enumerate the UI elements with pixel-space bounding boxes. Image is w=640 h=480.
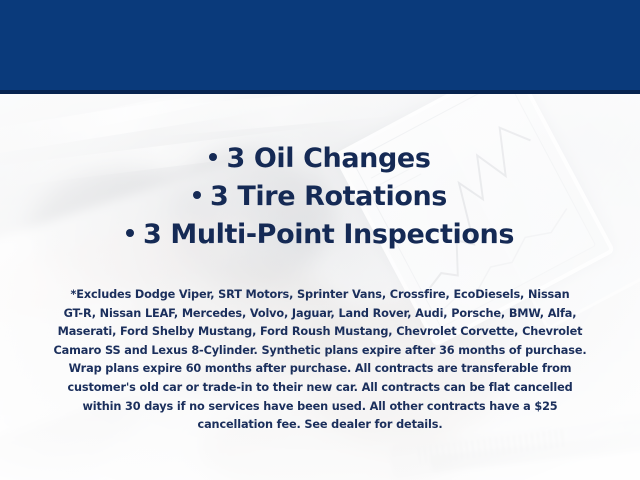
disclaimer-line: Camaro SS and Lexus 8-Cylinder. Syntheti… [34, 342, 606, 361]
benefit-label: 3 Oil Changes [226, 143, 430, 174]
disclaimer-line: Maserati, Ford Shelby Mustang, Ford Rous… [34, 323, 606, 342]
benefit-item-oil-changes: 3 Oil Changes [0, 140, 640, 178]
ad-content: 3 Oil Changes 3 Tire Rotations 3 Multi-P… [0, 0, 640, 480]
benefit-item-tire-rotations: 3 Tire Rotations [0, 178, 640, 216]
bullet-dot-icon [126, 229, 134, 237]
disclaimer-line: *Excludes Dodge Viper, SRT Motors, Sprin… [34, 286, 606, 305]
extracare-package-ad: ExtraCare Package* 3 Oil Changes 3 Tire … [0, 0, 640, 480]
disclaimer-line: cancellation fee. See dealer for details… [34, 416, 606, 435]
disclaimer-line: Wrap plans expire 60 months after purcha… [34, 360, 606, 379]
disclaimer-line: customer's old car or trade-in to their … [34, 379, 606, 398]
benefit-label: 3 Multi-Point Inspections [143, 219, 514, 250]
bullet-dot-icon [193, 191, 201, 199]
benefits-list: 3 Oil Changes 3 Tire Rotations 3 Multi-P… [0, 140, 640, 254]
disclaimer-line: within 30 days if no services have been … [34, 398, 606, 417]
bullet-dot-icon [209, 153, 217, 161]
benefit-label: 3 Tire Rotations [210, 181, 447, 212]
disclaimer-line: GT-R, Nissan LEAF, Mercedes, Volvo, Jagu… [34, 305, 606, 324]
benefit-item-multi-point-inspections: 3 Multi-Point Inspections [0, 216, 640, 254]
disclaimer-text: *Excludes Dodge Viper, SRT Motors, Sprin… [34, 286, 606, 435]
